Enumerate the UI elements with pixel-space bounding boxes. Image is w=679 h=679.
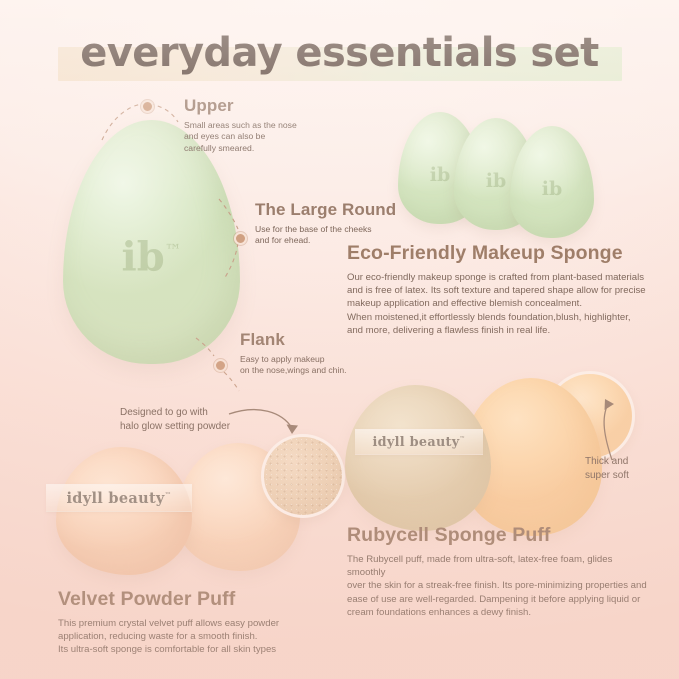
annotation-upper: Upper Small areas such as the nose and e… <box>184 96 334 154</box>
callout-arrowhead-halo-glow <box>287 425 299 435</box>
page-title-area: everyday essentials set <box>0 22 679 88</box>
marker-dot-flank <box>214 359 227 372</box>
marker-dot-upper <box>141 100 154 113</box>
product-heading: Rubycell Sponge Puff <box>347 524 647 547</box>
setting-powder-circle <box>261 434 345 518</box>
product-eco-sponge: Eco-Friendly Makeup Sponge Our eco-frien… <box>347 242 647 337</box>
rubycell-puff-brand-band: idyll beauty™ <box>355 429 483 455</box>
annotation-body: Small areas such as the nose and eyes ca… <box>184 120 334 154</box>
annotation-flank: Flank Easy to apply makeup on the nose,w… <box>240 330 430 377</box>
product-rubycell-puff: Rubycell Sponge Puff The Rubycell puff, … <box>347 524 647 619</box>
annotation-large-round: The Large Round Use for the base of the … <box>255 200 445 247</box>
brand-monogram-icon: ib™ <box>122 233 182 280</box>
product-body: This premium crystal velvet puff allows … <box>58 617 348 657</box>
leader-line-flank-lower <box>224 372 239 391</box>
velvet-puff-brand-band: idyll beauty™ <box>46 484 192 512</box>
product-body: The Rubycell puff, made from ultra-soft,… <box>347 553 647 619</box>
brand-monogram-icon: ib <box>542 178 563 200</box>
infographic-page: everyday essentials set ib™ ib ib ib idy… <box>0 0 679 679</box>
rubycell-puff-front <box>345 385 491 531</box>
large-green-sponge: ib™ <box>63 120 240 364</box>
callout-thick-soft: Thick and super soft <box>585 455 675 483</box>
product-velvet-puff: Velvet Powder Puff This premium crystal … <box>58 588 348 657</box>
callout-halo-glow: Designed to go with halo glow setting po… <box>120 406 270 434</box>
annotation-body: Easy to apply makeup on the nose,wings a… <box>240 354 430 377</box>
sponge-body: ib™ <box>63 120 240 364</box>
annotation-heading: Upper <box>184 96 334 116</box>
product-heading: Eco-Friendly Makeup Sponge <box>347 242 647 265</box>
product-body: Our eco-friendly makeup sponge is crafte… <box>347 271 647 337</box>
annotation-heading: The Large Round <box>255 200 445 220</box>
page-title: everyday essentials set <box>0 22 679 84</box>
brand-monogram-icon: ib <box>486 170 507 192</box>
marker-dot-large-round <box>234 232 247 245</box>
brand-monogram-icon: ib <box>430 164 451 186</box>
product-heading: Velvet Powder Puff <box>58 588 348 611</box>
